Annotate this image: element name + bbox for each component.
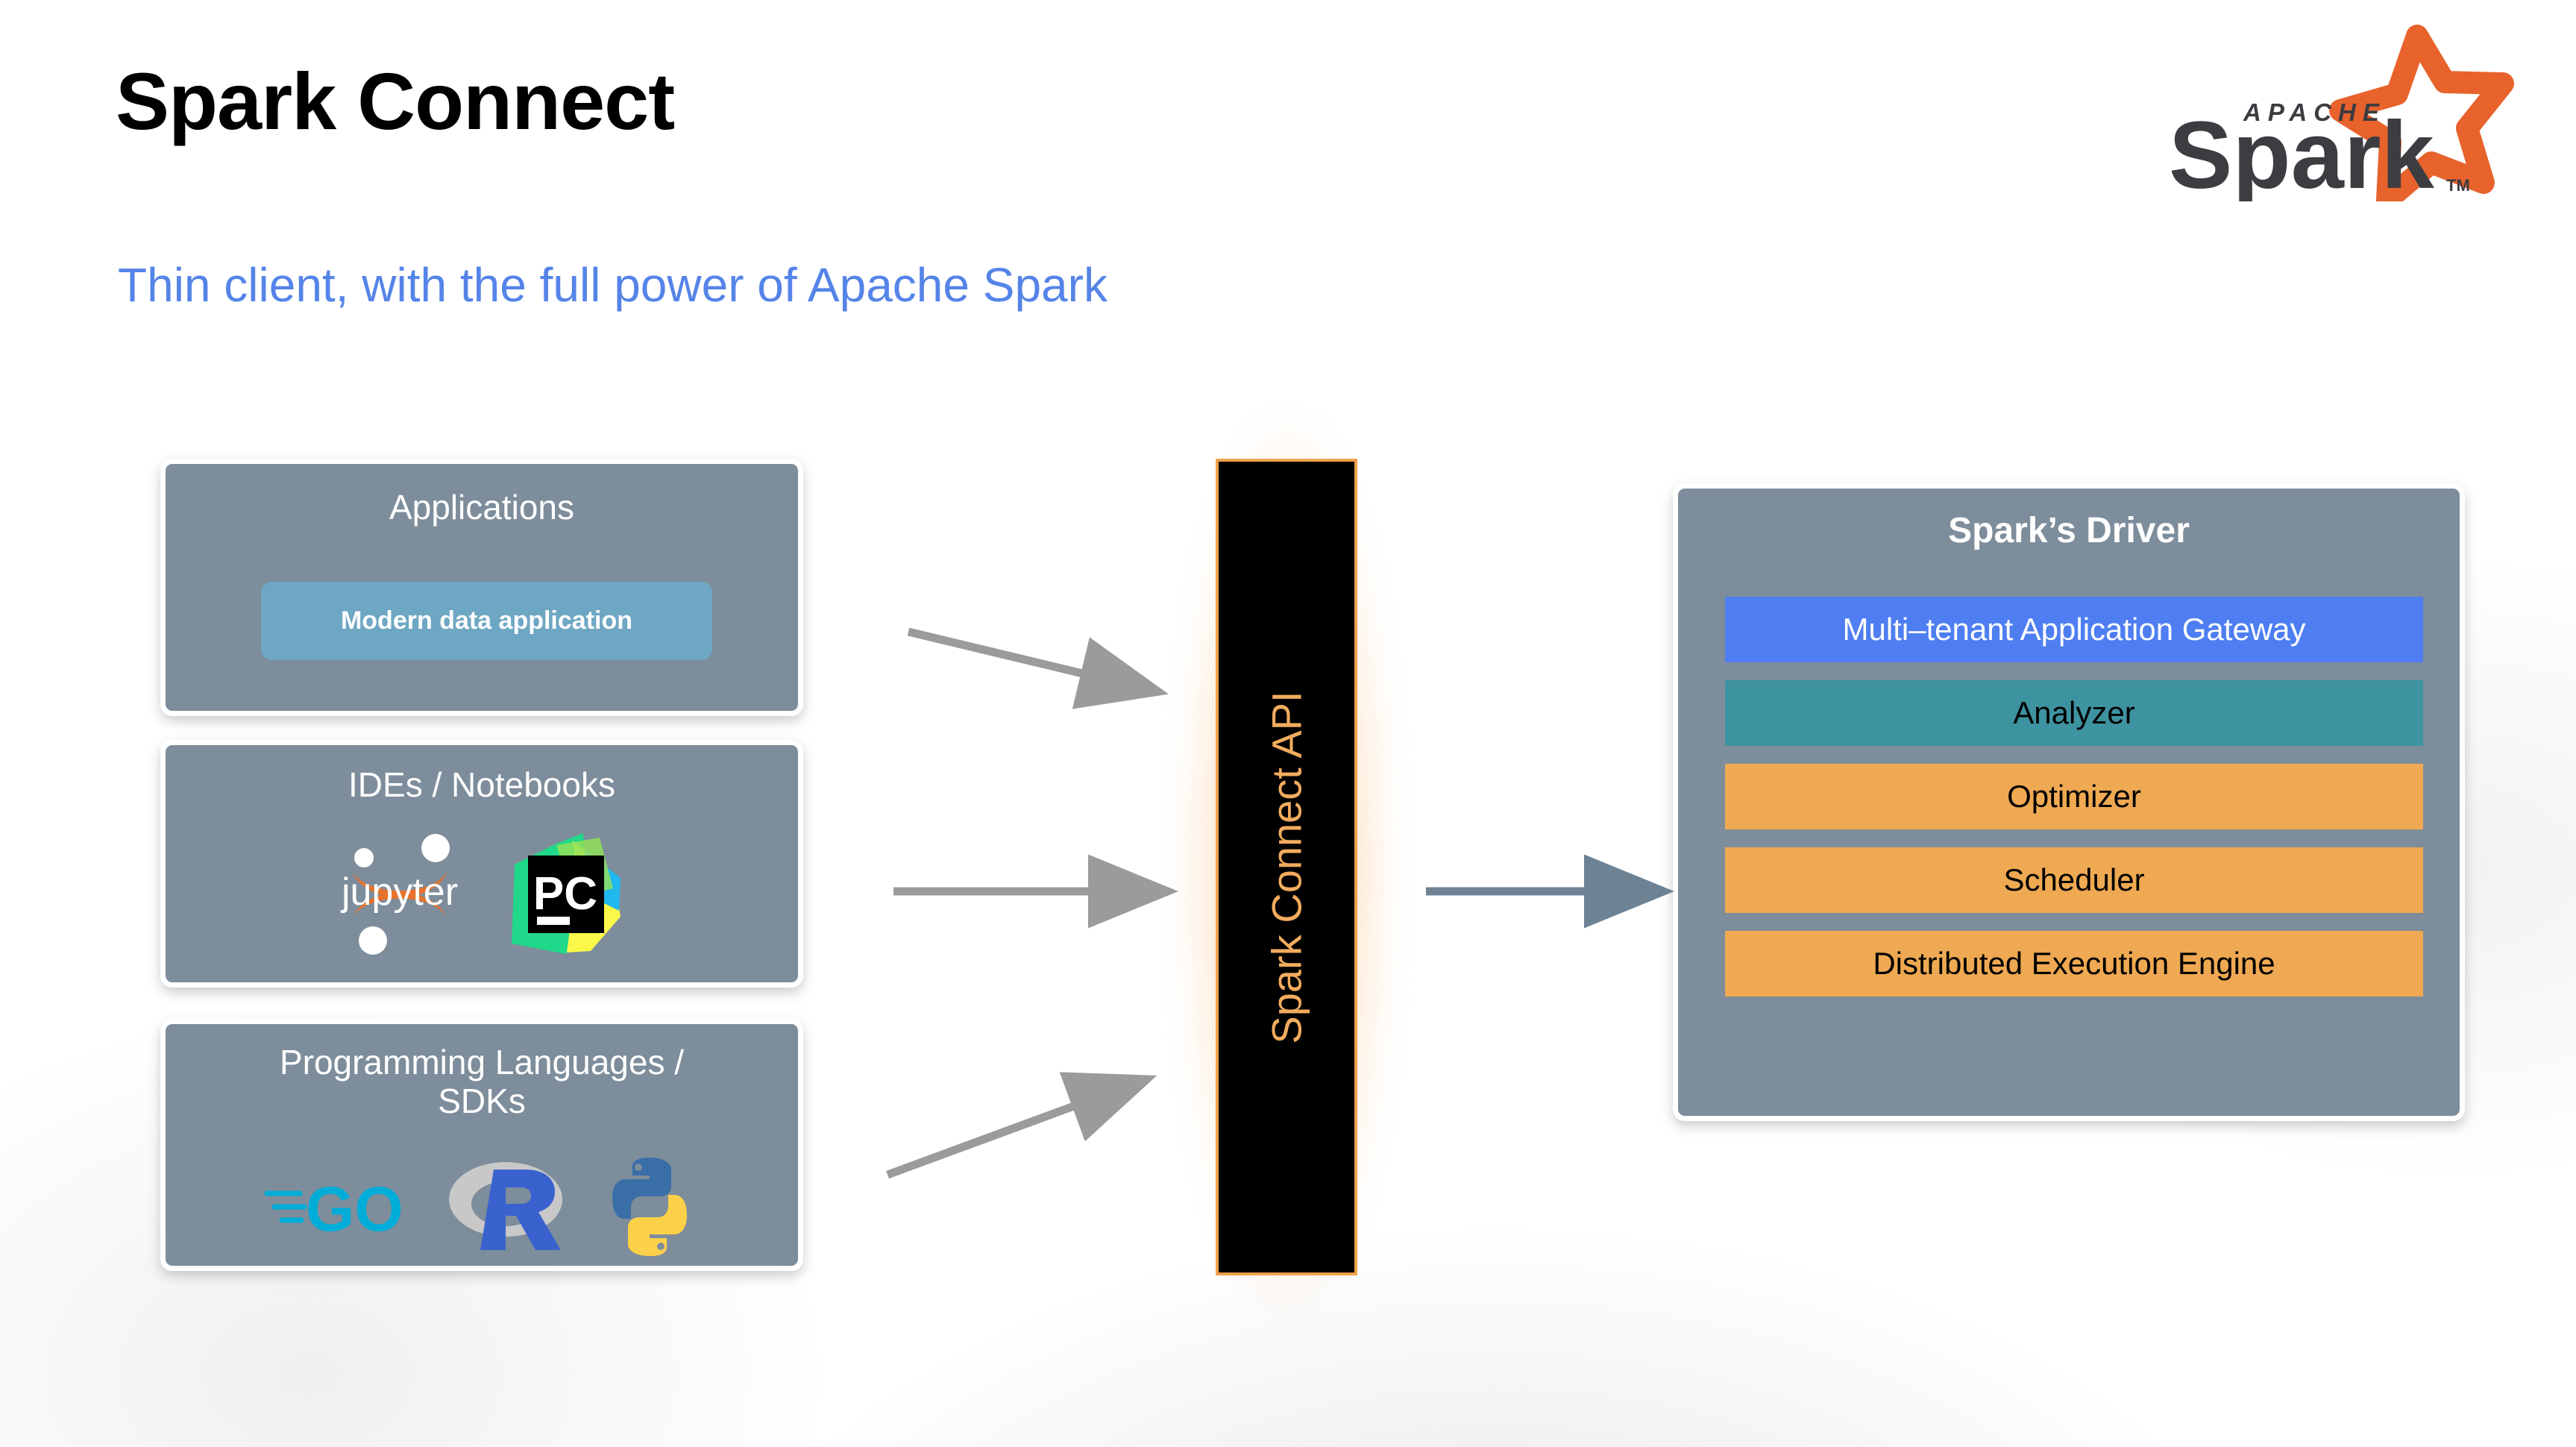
apache-spark-logo: APACHE Spark TM xyxy=(2133,22,2521,201)
driver-row-analyzer-label: Analyzer xyxy=(2013,695,2134,731)
svg-text:GO: GO xyxy=(306,1174,403,1243)
language-logo-row: GO xyxy=(166,1155,798,1263)
driver-stage-list: Multi–tenant Application Gateway Analyze… xyxy=(1725,597,2423,1014)
svg-text:PC: PC xyxy=(533,868,597,920)
arrow-languages-to-api xyxy=(888,1104,1080,1175)
panel-spark-driver[interactable]: Spark’s Driver Multi–tenant Application … xyxy=(1673,483,2465,1121)
panel-languages-title: Programming Languages / SDKs xyxy=(166,1043,798,1120)
driver-row-execution-engine-label: Distributed Execution Engine xyxy=(1873,946,2275,982)
svg-text:jupyter: jupyter xyxy=(340,870,458,914)
ide-logo-row: jupyter PC xyxy=(166,827,798,962)
panel-programming-languages[interactable]: Programming Languages / SDKs GO xyxy=(160,1019,803,1271)
arrow-applications-to-api xyxy=(908,632,1089,675)
driver-row-gateway-label: Multi–tenant Application Gateway xyxy=(1842,612,2305,647)
driver-row-execution-engine[interactable]: Distributed Execution Engine xyxy=(1725,931,2423,996)
driver-row-analyzer[interactable]: Analyzer xyxy=(1725,680,2423,746)
jupyter-logo: jupyter xyxy=(334,827,465,962)
page-subtitle: Thin client, with the full power of Apac… xyxy=(118,261,1108,309)
api-bar-label: Spark Connect API xyxy=(1263,691,1311,1043)
panel-ides-notebooks[interactable]: IDEs / Notebooks jupyter PC xyxy=(160,740,803,988)
python-logo xyxy=(598,1155,701,1263)
page-title: Spark Connect xyxy=(116,61,674,142)
driver-row-scheduler-label: Scheduler xyxy=(2003,862,2144,898)
panel-languages-title-line1: Programming Languages / xyxy=(166,1043,798,1082)
panel-ides-title: IDEs / Notebooks xyxy=(166,766,798,805)
driver-row-optimizer[interactable]: Optimizer xyxy=(1725,764,2423,829)
svg-text:Spark: Spark xyxy=(2169,102,2435,201)
api-bar-body: Spark Connect API xyxy=(1216,459,1357,1275)
panel-languages-title-line2: SDKs xyxy=(166,1082,798,1121)
r-logo xyxy=(443,1159,574,1258)
spark-connect-api-bar[interactable]: Spark Connect API xyxy=(1216,459,1357,1275)
driver-row-scheduler[interactable]: Scheduler xyxy=(1725,847,2423,913)
driver-row-optimizer-label: Optimizer xyxy=(2007,779,2141,814)
pycharm-logo: PC xyxy=(501,827,629,962)
svg-text:TM: TM xyxy=(2446,176,2470,195)
go-logo: GO xyxy=(263,1171,419,1246)
driver-row-gateway[interactable]: Multi–tenant Application Gateway xyxy=(1725,597,2423,662)
panel-applications-title: Applications xyxy=(166,489,798,527)
panel-driver-title: Spark’s Driver xyxy=(1678,511,2460,551)
panel-applications[interactable]: Applications Modern data application xyxy=(160,459,803,716)
chip-modern-data-application[interactable]: Modern data application xyxy=(261,582,712,660)
